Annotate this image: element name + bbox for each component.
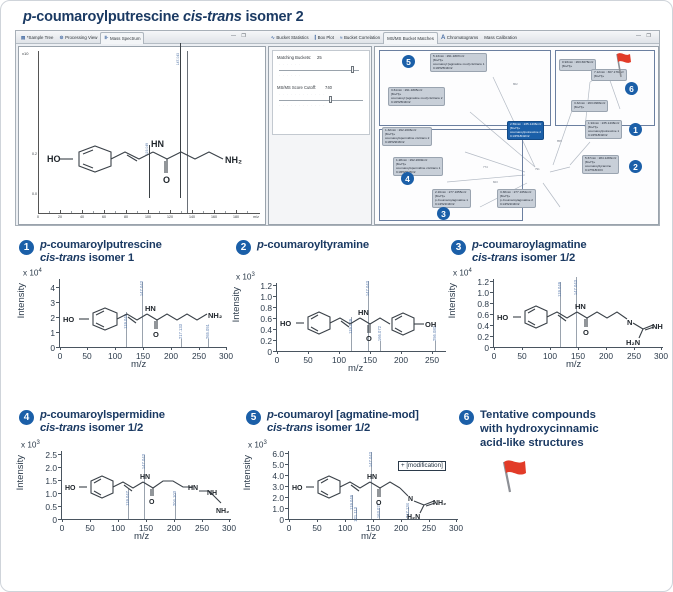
- chemical-structure-coumaroylputrescine: HO HN O NH₂: [41, 107, 256, 207]
- x-axis-label: m/z: [348, 363, 363, 374]
- ms-x-tick: 80: [124, 215, 128, 219]
- ms-x-tick: 20: [58, 215, 62, 219]
- y-tick: 1.0: [33, 489, 57, 499]
- panel-3: 3 p-coumaroylagmatine cis-trans isomer 1…: [451, 239, 666, 369]
- score-cutoff-value: 740: [325, 85, 332, 90]
- x-tick: 300: [222, 523, 236, 533]
- network-badge-1: 1: [629, 123, 642, 136]
- panel-6-text: Tentative compounds with hydroxycinnamic…: [480, 409, 599, 450]
- score-cutoff-ticks: · · · · · · · · · · · ·: [279, 92, 325, 96]
- tab-bar: ▤ *Sample Tree ⚙ Processing View ⊪ Mass …: [16, 31, 659, 44]
- x-tick: 250: [192, 351, 206, 361]
- ms-x-tick: 60: [102, 215, 106, 219]
- panel-1-chart: x 104 Intensity 0 1 2 3 4 0 50 100 150 2…: [19, 269, 231, 369]
- title-part-isomer: isomer 2: [242, 9, 304, 25]
- x-tick: 200: [394, 355, 408, 365]
- svg-text:HN: HN: [145, 304, 156, 313]
- y-tick: 2: [39, 313, 55, 323]
- tab-sample-tree[interactable]: ▤ *Sample Tree: [18, 32, 56, 44]
- svg-text:HO: HO: [497, 313, 508, 322]
- y-tick: 1.2: [248, 281, 272, 291]
- tab-box-plot[interactable]: ⫿ Box Plot: [312, 32, 337, 44]
- chemical-structure-panel-2: HO HN O OH: [278, 293, 446, 343]
- mass-spectrum-pane: x10 0.0 0.2 0 20 40 60 80 100 120: [18, 46, 266, 225]
- edge-label: 856: [557, 139, 562, 143]
- y-tick: 0.4: [248, 325, 272, 335]
- figure-root: p-coumaroylputrescine cis-trans isomer 2…: [0, 0, 673, 592]
- y-axis: [288, 451, 289, 519]
- modification-annotation: + [modification]: [398, 461, 446, 471]
- y-tick: 2.0: [33, 463, 57, 473]
- ms-y-axis: [38, 51, 39, 213]
- y-tick: 2.0: [260, 493, 284, 503]
- y-tick: 3.0: [260, 482, 284, 492]
- x-tick: 0: [60, 523, 65, 533]
- svg-text:N: N: [408, 496, 413, 503]
- controls-pane: Matching Buckets: 25 · · · · · · · · · ·…: [268, 46, 372, 225]
- svg-text:OH: OH: [425, 320, 436, 329]
- matching-buckets-ticks: · · · · · ·: [279, 62, 301, 66]
- tab-bucket-statistics[interactable]: ∿ Bucket Statistics: [268, 32, 312, 44]
- y-tick: 0: [248, 347, 272, 357]
- svg-text:O: O: [366, 334, 372, 343]
- spectrum-icon: ⊪: [104, 35, 108, 41]
- score-cutoff-ticks-lower: · · · · · · · · · · · ·: [279, 103, 325, 107]
- svg-text:HN: HN: [575, 302, 586, 311]
- msms-network-pane: 5.13min : 291.1807m/z [M+H]+ coumaroyl […: [374, 46, 659, 225]
- panel-title: p-coumaroyltyramine: [257, 239, 369, 252]
- panel-6-header: 6 Tentative compounds with hydroxycinnam…: [459, 409, 659, 450]
- panel-2: 2 p-coumaroyltyramine x 103 Intensity 0 …: [236, 239, 448, 373]
- tab-processing-view[interactable]: ⚙ Processing View: [56, 32, 100, 44]
- svg-text:NH₂: NH₂: [208, 311, 222, 320]
- boxplot-icon: ⫿: [315, 35, 316, 40]
- svg-text:HO: HO: [63, 315, 74, 324]
- peak-line: [208, 339, 209, 347]
- tab-label: Processing View: [65, 35, 97, 40]
- x-tick: 0: [287, 523, 292, 533]
- y-axis: [59, 279, 60, 347]
- x-axis-label: m/z: [361, 531, 376, 542]
- svg-text:NH₂: NH₂: [225, 155, 242, 165]
- x-tick: 300: [654, 351, 668, 361]
- y-axis-label: Intensity: [231, 287, 242, 322]
- right-tab-group: ∿ Bucket Statistics ⫿ Box Plot ≈ Bucket …: [268, 31, 520, 44]
- y-exponent: x 103: [21, 440, 40, 450]
- svg-text:HO: HO: [292, 485, 303, 492]
- y-tick: 0: [33, 515, 57, 525]
- x-tick: 300: [219, 351, 233, 361]
- ms-x-tick: 160: [211, 215, 217, 219]
- svg-text:HN: HN: [140, 474, 150, 481]
- x-tick: 0: [58, 351, 63, 361]
- x-tick: 250: [422, 523, 436, 533]
- y-tick: 1.5: [33, 476, 57, 486]
- panel-title: p-coumaroylagmatine cis-trans isomer 1/2: [472, 239, 587, 265]
- ms-peak-label: 147.043: [176, 53, 180, 65]
- correlation-icon: ≈: [340, 35, 343, 40]
- network-badge-6: 6: [625, 82, 638, 95]
- svg-text:NH: NH: [207, 490, 217, 497]
- page-title: p-coumaroylputrescine cis-trans isomer 2: [23, 9, 304, 25]
- edge-label: 802: [513, 82, 518, 86]
- tab-label: *Sample Tree: [27, 35, 54, 40]
- title-part-p: p-: [23, 9, 36, 25]
- svg-text:NH₂: NH₂: [433, 500, 446, 507]
- y-tick: 3: [39, 298, 55, 308]
- svg-text:NH₂: NH₂: [652, 322, 663, 331]
- svg-text:H₂N: H₂N: [407, 514, 420, 519]
- tab-mass-spectrum[interactable]: ⊪ Mass Spectrum: [100, 32, 144, 44]
- panel-badge: 5: [246, 410, 261, 425]
- panel-badge: 1: [19, 240, 34, 255]
- tab-mass-calibration[interactable]: Mass Calibration: [481, 32, 520, 44]
- svg-text:HN: HN: [151, 139, 164, 149]
- y-axis: [276, 283, 277, 351]
- letter-a-icon: A: [441, 35, 445, 41]
- x-axis: [276, 351, 446, 352]
- x-tick: 50: [82, 351, 91, 361]
- panel-4: 4 p-coumaroylspermidine cis-trans isomer…: [19, 409, 234, 546]
- svg-text:HN: HN: [367, 474, 377, 481]
- edge-label: 823: [493, 180, 498, 184]
- panel-3-chart: x 104 Intensity 0 0.2 0.4 0.6 0.8 1.0 1.…: [451, 269, 666, 369]
- y-tick: 0: [260, 515, 284, 525]
- panel-title: p-coumaroyl [agmatine-mod] cis-trans iso…: [267, 409, 419, 435]
- y-tick: 1: [39, 328, 55, 338]
- svg-text:O: O: [163, 175, 170, 185]
- y-axis-label: Intensity: [16, 283, 27, 318]
- score-cutoff-label: MS/MS Score Cutoff:: [277, 85, 316, 90]
- tab-label: Mass Calibration: [484, 35, 517, 40]
- matching-buckets-track[interactable]: [279, 70, 359, 71]
- y-axis-label: Intensity: [15, 455, 26, 490]
- y-tick: 1.0: [260, 504, 284, 514]
- x-tick: 100: [338, 523, 352, 533]
- svg-text:HO: HO: [65, 485, 76, 492]
- chemical-structure-panel-1: HO HN O NH₂: [61, 287, 226, 339]
- x-axis-label: m/z: [566, 359, 581, 370]
- ms-x-tick: 140: [189, 215, 195, 219]
- tab-bucket-correlation[interactable]: ≈ Bucket Correlation: [337, 32, 383, 44]
- tab-label: Bucket Correlation: [344, 35, 380, 40]
- ms-x-tick: 0: [37, 215, 39, 219]
- y-axis: [493, 279, 494, 347]
- y-tick: 0.2: [465, 332, 489, 342]
- matching-buckets-ticks-lower: · · · · · ·: [279, 73, 301, 77]
- svg-text:NH₂: NH₂: [216, 508, 229, 515]
- matching-buckets-knob[interactable]: [351, 66, 354, 73]
- svg-text:HN: HN: [358, 308, 369, 317]
- y-tick: 0: [39, 343, 55, 353]
- network-graph[interactable]: 5.13min : 291.1807m/z [M+H]+ coumaroyl […: [375, 47, 658, 224]
- application-window: ▤ *Sample Tree ⚙ Processing View ⊪ Mass …: [15, 30, 660, 226]
- red-flag-icon: [495, 456, 531, 496]
- peak-line: [181, 339, 182, 347]
- y-exponent: x 104: [23, 268, 42, 278]
- panel-badge: 6: [459, 410, 474, 425]
- chemical-structure-panel-3: HO HN O N NH₂ H₂N: [495, 289, 663, 347]
- panel-4-chart: x 103 Intensity 0 0.5 1.0 1.5 2.0 2.5 0 …: [19, 441, 234, 546]
- network-node[interactable]: 3.32min : 263.0983m/z [M+H]+: [571, 100, 608, 112]
- tab-label: Bucket Statistics: [276, 35, 308, 40]
- network-node[interactable]: 3.38min : 277.1654m/z [M+H]+ p-Coumaroyl…: [497, 189, 536, 208]
- network-node[interactable]: 5.13min : 291.1807m/z [M+H]+ coumaroyl […: [430, 53, 487, 72]
- x-tick: 0: [275, 355, 280, 365]
- network-node[interactable]: 1.28min : 292.2009m/z [M+H]+ coumaroylsp…: [393, 157, 443, 176]
- y-tick: 1.0: [248, 292, 272, 302]
- panel-title: p-coumaroylputrescine cis-trans isomer 1: [40, 239, 162, 265]
- svg-text:O: O: [583, 328, 589, 337]
- panel-1: 1 p-coumaroylputrescine cis-trans isomer…: [19, 239, 231, 369]
- wave-icon: ∿: [271, 35, 275, 41]
- x-tick: 50: [85, 523, 94, 533]
- red-flag-icon: [611, 50, 633, 80]
- edge-label: 774: [483, 165, 488, 169]
- svg-text:HO: HO: [280, 319, 291, 328]
- panel-5: 5 p-coumaroyl [agmatine-mod] cis-trans i…: [246, 409, 461, 546]
- y-tick: 0.8: [465, 299, 489, 309]
- network-node[interactable]: 5.67min : 284.1283m/z [M+H]+ coumaroylty…: [582, 155, 619, 174]
- svg-text:HO: HO: [47, 154, 61, 164]
- x-tick: 50: [517, 351, 526, 361]
- panel-1-header: 1 p-coumaroylputrescine cis-trans isomer…: [19, 239, 231, 265]
- network-badge-4: 4: [401, 172, 414, 185]
- x-tick: 300: [449, 523, 463, 533]
- svg-text:H₂N: H₂N: [626, 338, 640, 347]
- ms-x-tick: 100: [145, 215, 151, 219]
- matching-buckets-label: Matching Buckets:: [277, 55, 311, 60]
- x-tick: 100: [111, 523, 125, 533]
- left-window-buttons[interactable]: — ❐: [231, 33, 248, 39]
- svg-text:N: N: [627, 318, 632, 327]
- y-axis-label: Intensity: [242, 455, 253, 490]
- panel-badge: 2: [236, 240, 251, 255]
- ms-x-axis-label: m/z: [253, 215, 259, 219]
- panel-2-header: 2 p-coumaroyltyramine: [236, 239, 448, 255]
- panel-2-chart: x 103 Intensity 0 0.2 0.4 0.6 0.8 1.0 1.…: [236, 273, 448, 373]
- y-tick: 0.2: [248, 336, 272, 346]
- tree-icon: ▤: [21, 35, 25, 41]
- right-window-buttons[interactable]: — ❐: [636, 33, 653, 39]
- x-tick: 50: [312, 523, 321, 533]
- network-badge-3: 3: [437, 207, 450, 220]
- y-axis-label: Intensity: [447, 283, 458, 318]
- x-tick: 50: [303, 355, 312, 365]
- panel-5-header: 5 p-coumaroyl [agmatine-mod] cis-trans i…: [246, 409, 461, 435]
- panel-4-header: 4 p-coumaroylspermidine cis-trans isomer…: [19, 409, 234, 435]
- y-tick: 2.5: [33, 450, 57, 460]
- y-tick: 1.0: [465, 288, 489, 298]
- y-tick: 0.8: [248, 303, 272, 313]
- tab-label: Box Plot: [318, 35, 334, 40]
- network-node[interactable]: 1.94min : 235.1438m/z [M+H]+ coumaroylpu…: [585, 120, 622, 139]
- title-part-cistrans: cis-trans: [183, 9, 242, 25]
- y-tick: 0.5: [33, 502, 57, 512]
- tab-msms-bucket-matches[interactable]: MS/MS Bucket Matches: [383, 32, 438, 44]
- y-tick: 4.0: [260, 471, 284, 481]
- mass-spectrum-plot: x10 0.0 0.2 0 20 40 60 80 100 120: [19, 47, 265, 224]
- score-cutoff-track[interactable]: [279, 100, 363, 101]
- x-tick: 200: [167, 523, 181, 533]
- x-tick: 100: [543, 351, 557, 361]
- edge-label: 791: [535, 167, 540, 171]
- x-tick: 100: [332, 355, 346, 365]
- x-axis-label: m/z: [131, 359, 146, 370]
- x-tick: 150: [363, 355, 377, 365]
- y-tick: 6.0: [260, 449, 284, 459]
- x-axis-label: m/z: [134, 531, 149, 542]
- y-tick: 0.6: [248, 314, 272, 324]
- y-axis: [61, 451, 62, 519]
- svg-text:O: O: [153, 330, 159, 339]
- panel-badge: 3: [451, 240, 466, 255]
- y-tick: 0: [465, 343, 489, 353]
- chemical-structure-panel-4: HO HN O HN NH NH₂: [63, 461, 231, 519]
- svg-text:O: O: [376, 500, 382, 507]
- x-tick: 200: [394, 523, 408, 533]
- network-node[interactable]: 1.32min : 292.2006m/z [M+H]+ coumaroylsp…: [382, 127, 432, 146]
- y-tick: 0.6: [465, 310, 489, 320]
- ms-y-exponent: x10: [22, 51, 28, 56]
- ms-x-tick: 180: [233, 215, 239, 219]
- x-tick: 200: [599, 351, 613, 361]
- y-tick: 0.4: [465, 321, 489, 331]
- x-tick: 250: [195, 523, 209, 533]
- network-badge-5: 5: [402, 55, 415, 68]
- network-badge-2: 2: [629, 160, 642, 173]
- x-tick: 100: [108, 351, 122, 361]
- ms-x-tick: 120: [167, 215, 173, 219]
- panel-5-chart: x 103 Intensity 0 1.0 2.0 3.0 4.0 5.0 6.…: [246, 441, 461, 546]
- ms-x-tick: 40: [80, 215, 84, 219]
- x-tick: 250: [627, 351, 641, 361]
- ms-y-tick: 0.0: [32, 192, 37, 196]
- tab-label: MS/MS Bucket Matches: [387, 36, 434, 41]
- y-tick: 5.0: [260, 460, 284, 470]
- ms-y-tick: 0.2: [32, 152, 37, 156]
- panel-6: 6 Tentative compounds with hydroxycinnam…: [459, 409, 659, 501]
- left-tab-group: ▤ *Sample Tree ⚙ Processing View ⊪ Mass …: [18, 31, 144, 44]
- matching-buckets-value: 25: [317, 55, 322, 60]
- y-tick: 1.2: [465, 277, 489, 287]
- tab-chromatograms[interactable]: A Chromatograms: [438, 32, 481, 44]
- tab-label: Mass Spectrum: [110, 36, 141, 41]
- panel-badge: 4: [19, 410, 34, 425]
- panel-title: p-coumaroylspermidine cis-trans isomer 1…: [40, 409, 165, 435]
- x-tick: 0: [492, 351, 497, 361]
- x-tick: 250: [425, 355, 439, 365]
- gear-icon: ⚙: [59, 35, 63, 41]
- network-node[interactable]: 3.61min : 291.1805m/z [M+H]+ coumaroyl […: [388, 87, 445, 106]
- y-tick: 4: [39, 283, 55, 293]
- network-node-selected[interactable]: 2.59min : 235.1436m/z [M+H]+ coumaroylpu…: [507, 121, 544, 140]
- tab-label: Chromatograms: [447, 35, 478, 40]
- panel-3-header: 3 p-coumaroylagmatine cis-trans isomer 1…: [451, 239, 666, 265]
- svg-text:HN: HN: [188, 485, 198, 492]
- score-cutoff-knob[interactable]: [329, 96, 332, 103]
- network-node[interactable]: 2.16min : 277.1655m/z [M+H]+ p-Coumaroyl…: [432, 189, 471, 208]
- x-tick: 200: [164, 351, 178, 361]
- ms-x-axis: [38, 213, 260, 214]
- title-part-name: coumaroylputrescine: [36, 9, 183, 25]
- controls-box: Matching Buckets: 25 · · · · · · · · · ·…: [272, 50, 370, 135]
- svg-text:O: O: [149, 499, 155, 506]
